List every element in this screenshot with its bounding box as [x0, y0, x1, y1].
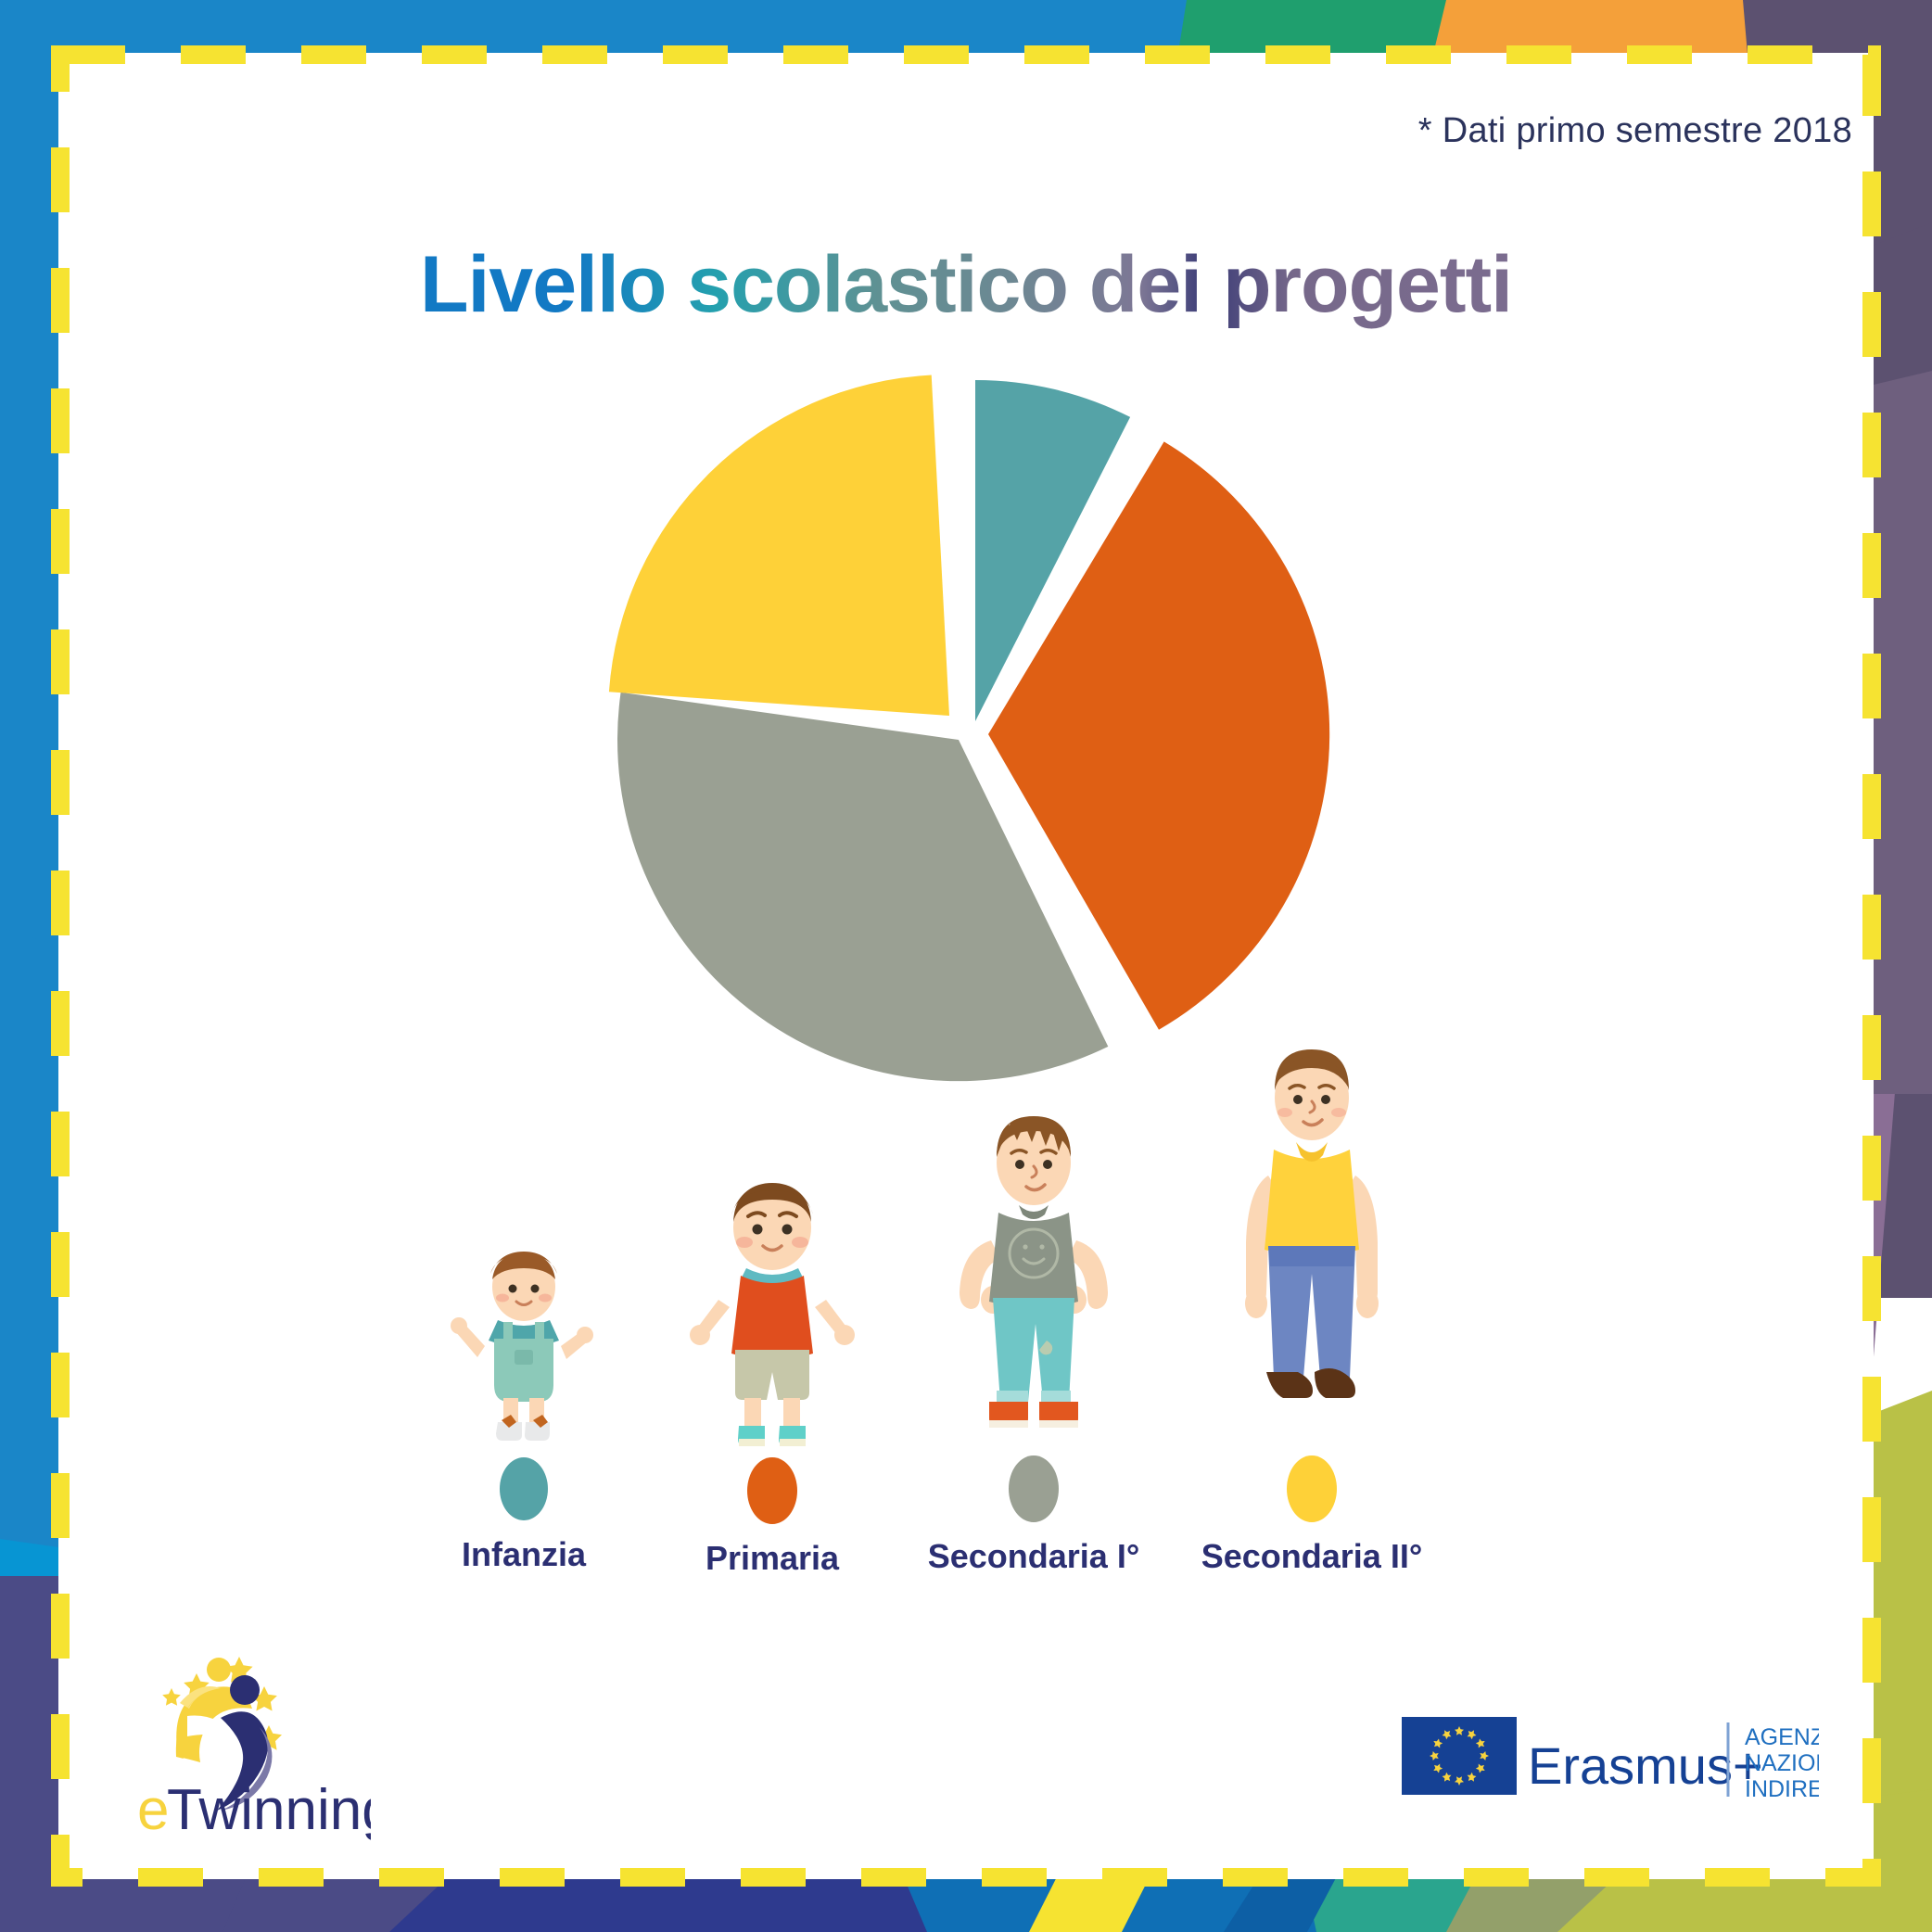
etwinning-logo[interactable]: e Twinning	[130, 1646, 371, 1845]
erasmus-logo[interactable]: Erasmus+ AGENZIA NAZIONALE INDIRE	[1402, 1706, 1819, 1808]
page-title: Livello scolastico dei progetti	[0, 239, 1932, 331]
toddler-figure	[450, 1242, 598, 1455]
etwinning-logo-svg: e Twinning	[130, 1646, 371, 1845]
legend-item-primaria[interactable]: Primaria	[647, 1170, 897, 1578]
pie-chart	[517, 362, 1415, 1131]
agency-line-2: NAZIONALE	[1745, 1750, 1819, 1776]
pie-chart-svg	[517, 362, 1415, 1131]
child-figure	[689, 1170, 856, 1455]
legend-label-secondaria-2: Secondaria II°	[1177, 1537, 1446, 1576]
infographic-poster: * Dati primo semestre 2018 Livello scola…	[0, 0, 1932, 1932]
etwinning-wordmark: Twinning	[167, 1778, 371, 1842]
color-dot-infanzia	[496, 1455, 552, 1522]
legend-figures: Infanzia	[399, 1094, 1539, 1576]
page-title-text: Livello scolastico dei progetti	[420, 240, 1512, 329]
legend-item-infanzia[interactable]: Infanzia	[399, 1242, 649, 1574]
legend-item-secondaria-2[interactable]: Secondaria II°	[1177, 1036, 1446, 1576]
legend-label-infanzia: Infanzia	[399, 1535, 649, 1574]
etwinning-e: e	[137, 1778, 169, 1842]
color-dot-primaria	[744, 1455, 801, 1526]
legend-label-secondaria-1: Secondaria I°	[899, 1537, 1168, 1576]
agency-line-1: AGENZIA	[1745, 1724, 1819, 1750]
data-period-note: * Dati primo semestre 2018	[1418, 111, 1852, 151]
erasmus-logo-svg: Erasmus+ AGENZIA NAZIONALE INDIRE	[1402, 1706, 1819, 1808]
color-dot-secondaria-1	[1005, 1454, 1062, 1524]
color-dot-secondaria-2	[1283, 1454, 1341, 1524]
legend-label-primaria: Primaria	[647, 1539, 897, 1578]
young-adult-figure	[1214, 1036, 1409, 1454]
agency-line-3: INDIRE	[1745, 1776, 1819, 1802]
legend-item-secondaria-1[interactable]: Secondaria I°	[899, 1101, 1168, 1576]
pie-slice-secondaria-2[interactable]	[609, 375, 949, 717]
teen-figure	[941, 1101, 1126, 1454]
